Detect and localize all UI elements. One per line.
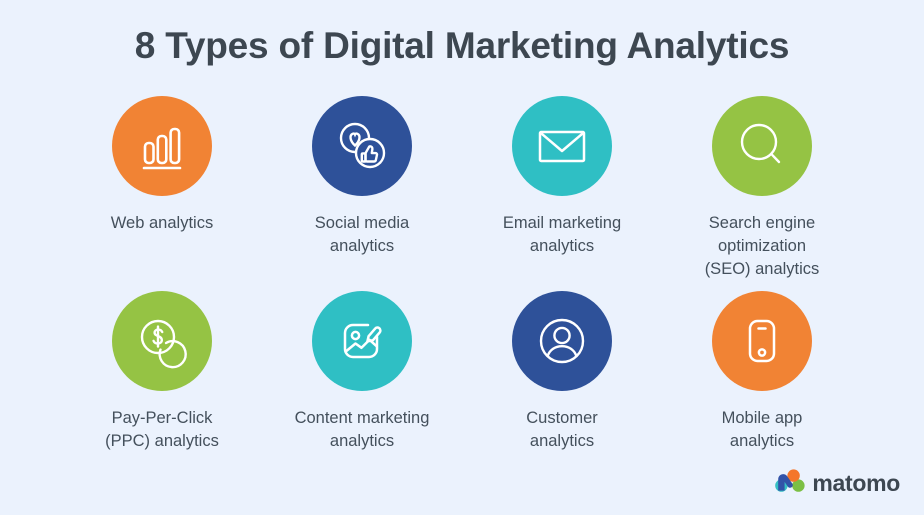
- image-pencil-icon: [334, 313, 390, 369]
- matomo-logo-mark: [775, 469, 805, 498]
- analytics-item-label: Search engine optimization (SEO) analyti…: [667, 212, 857, 281]
- dollar-coins-icon: [134, 313, 190, 369]
- heart-thumbs-up-icon: [334, 118, 390, 174]
- smartphone-icon: [735, 314, 789, 368]
- analytics-item-content-marketing: Content marketing analytics: [262, 291, 462, 486]
- analytics-item-label: Web analytics: [67, 212, 257, 235]
- analytics-item-label: Customer analytics: [467, 407, 657, 453]
- analytics-item-label: Email marketing analytics: [467, 212, 657, 258]
- infographic-canvas: 8 Types of Digital Marketing Analytics W…: [0, 0, 924, 515]
- envelope-icon: [533, 117, 591, 175]
- analytics-item-customer: Customer analytics: [462, 291, 662, 486]
- analytics-item-email-marketing: Email marketing analytics: [462, 96, 662, 291]
- bar-chart-icon: [135, 119, 189, 173]
- analytics-item-social-media: Social media analytics: [262, 96, 462, 291]
- icon-badge-social-media: [312, 96, 412, 196]
- magnifying-glass-icon: [734, 118, 790, 174]
- analytics-item-label: Pay-Per-Click (PPC) analytics: [67, 407, 257, 453]
- icon-badge-content-marketing: [312, 291, 412, 391]
- analytics-item-label: Mobile app analytics: [667, 407, 857, 453]
- icon-badge-customer: [512, 291, 612, 391]
- icon-badge-mobile-app: [712, 291, 812, 391]
- analytics-item-web: Web analytics: [62, 96, 262, 291]
- user-avatar-icon: [533, 312, 591, 370]
- icon-badge-seo: [712, 96, 812, 196]
- analytics-types-grid: Web analytics Social media analytics: [62, 96, 862, 486]
- icon-badge-web: [112, 96, 212, 196]
- analytics-item-mobile-app: Mobile app analytics: [662, 291, 862, 486]
- analytics-item-label: Social media analytics: [267, 212, 457, 258]
- matomo-wordmark: matomo: [812, 472, 900, 495]
- matomo-logo: matomo: [775, 469, 900, 498]
- analytics-item-label: Content marketing analytics: [267, 407, 457, 453]
- icon-badge-ppc: [112, 291, 212, 391]
- analytics-item-ppc: Pay-Per-Click (PPC) analytics: [62, 291, 262, 486]
- analytics-item-seo: Search engine optimization (SEO) analyti…: [662, 96, 862, 291]
- page-title: 8 Types of Digital Marketing Analytics: [0, 23, 924, 69]
- icon-badge-email-marketing: [512, 96, 612, 196]
